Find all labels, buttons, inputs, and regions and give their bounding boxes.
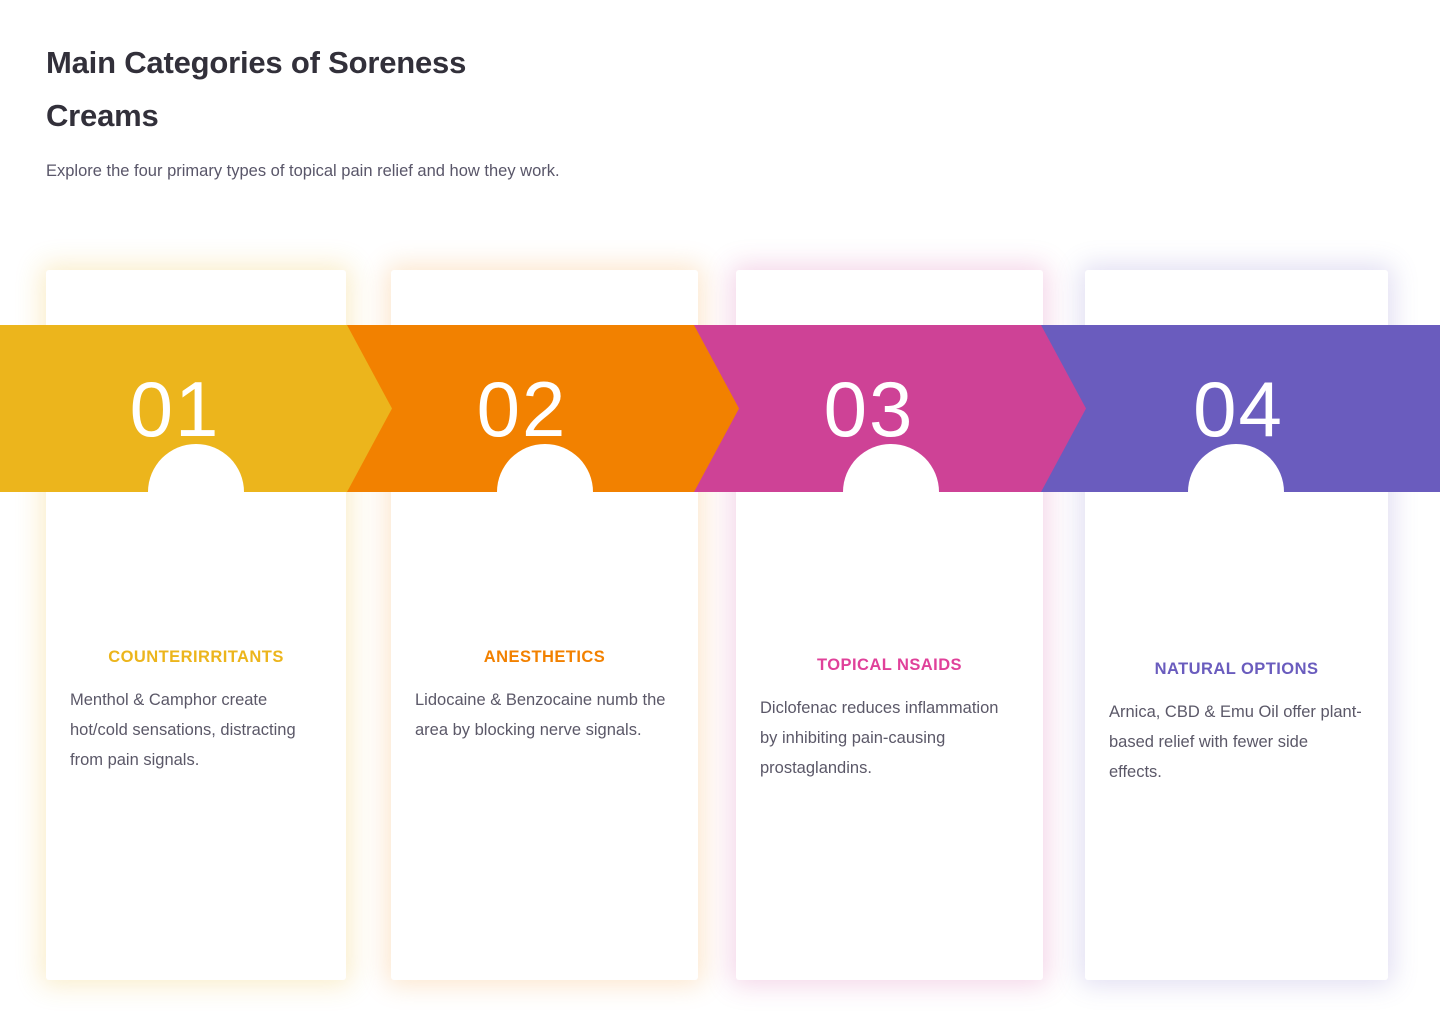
step-number-4: 04 <box>1193 370 1284 448</box>
card-notch-1 <box>148 444 244 540</box>
category-label-2: ANESTHETICS <box>413 648 676 667</box>
category-description-3: Diclofenac reduces inflammation by inhib… <box>758 693 1021 784</box>
category-label-3: TOPICAL NSAIDS <box>758 656 1021 675</box>
category-label-1: COUNTERIRRITANTS <box>68 648 324 667</box>
step-number-2: 02 <box>477 370 568 448</box>
step-number-1: 01 <box>130 370 221 448</box>
category-description-2: Lidocaine & Benzocaine numb the area by … <box>413 685 676 745</box>
category-description-1: Menthol & Camphor create hot/cold sensat… <box>68 685 324 776</box>
card-notch-2 <box>497 444 593 540</box>
step-number-3: 03 <box>824 370 915 448</box>
card-notch-3 <box>843 444 939 540</box>
infographic-page: Main Categories of Soreness Creams Explo… <box>0 0 1440 1024</box>
card-notch-4 <box>1188 444 1284 540</box>
category-description-4: Arnica, CBD & Emu Oil offer plant-based … <box>1107 697 1366 788</box>
category-label-4: NATURAL OPTIONS <box>1107 660 1366 679</box>
